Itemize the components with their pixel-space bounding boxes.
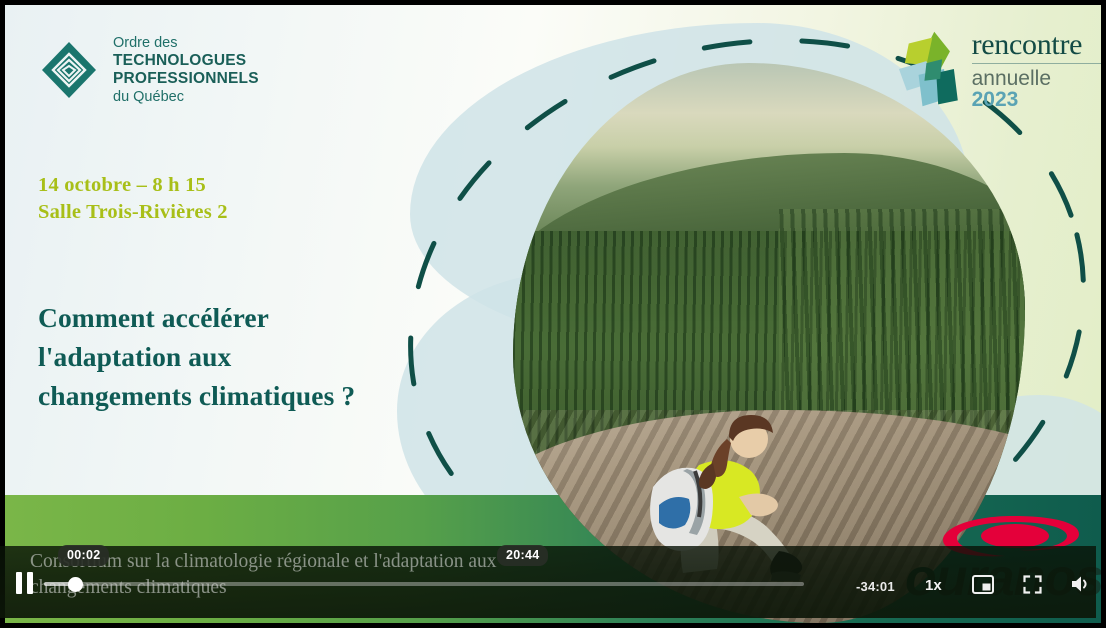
title-line-1: Comment accélérer xyxy=(38,298,355,337)
otpq-line3: PROFESSIONNELS xyxy=(113,70,259,88)
seek-track[interactable] xyxy=(44,582,804,586)
otpq-line4: du Québec xyxy=(113,89,259,106)
pinwheel-star-logo xyxy=(897,29,968,111)
title-line-2: l'adaptation aux xyxy=(38,337,355,376)
current-time-badge: 00:02 xyxy=(58,545,109,566)
title-line-3: changements climatiques ? xyxy=(38,376,355,415)
rencontre-annuelle-logo: rencontre annuelle 2023 xyxy=(897,29,1101,111)
nested-diamond-logo xyxy=(39,39,99,101)
fullscreen-icon[interactable] xyxy=(1023,575,1042,594)
session-schedule: 14 octobre – 8 h 15 Salle Trois-Rivières… xyxy=(38,172,228,226)
seek-handle[interactable] xyxy=(68,577,83,592)
otpq-line1: Ordre des xyxy=(113,35,259,52)
video-player-window: ouranos Ordre des TECHNOLOGUES PROFESSIO… xyxy=(0,0,1106,628)
total-time-badge: 20:44 xyxy=(497,545,548,566)
pause-icon[interactable] xyxy=(15,572,37,594)
session-room: Salle Trois-Rivières 2 xyxy=(38,199,228,226)
otpq-logo: Ordre des TECHNOLOGUES PROFESSIONNELS du… xyxy=(39,35,259,106)
picture-in-picture-icon[interactable] xyxy=(972,575,994,594)
volume-high-icon[interactable] xyxy=(1070,574,1091,594)
slide-canvas: ouranos Ordre des TECHNOLOGUES PROFESSIO… xyxy=(5,5,1101,623)
rencontre-word: rencontre xyxy=(972,30,1101,64)
annuelle-year: annuelle 2023 xyxy=(972,68,1101,110)
session-time: 14 octobre – 8 h 15 xyxy=(38,172,228,199)
annuelle-word: annuelle xyxy=(972,67,1051,90)
page-title: Comment accélérer l'adaptation aux chang… xyxy=(38,298,355,415)
playback-speed-button[interactable]: 1x xyxy=(925,577,942,594)
remaining-time: -34:01 xyxy=(856,579,895,594)
seek-bar[interactable] xyxy=(44,582,804,586)
otpq-line2: TECHNOLOGUES xyxy=(113,52,259,70)
year-2023: 2023 xyxy=(972,88,1019,111)
